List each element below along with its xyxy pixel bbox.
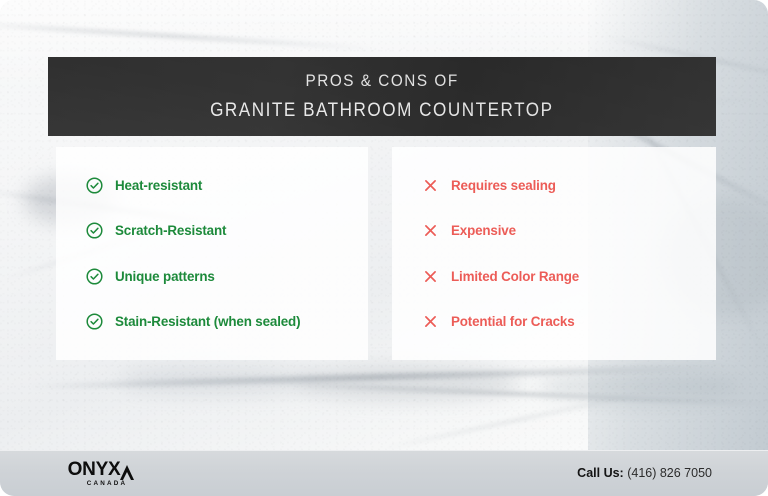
pros-panel: Heat-resistant Scratch-Resistant Unique … [56, 147, 368, 360]
list-item-label: Expensive [451, 223, 516, 238]
list-item: Expensive [422, 208, 716, 254]
check-circle-icon [86, 222, 103, 239]
logo-word-text: ONYX [68, 460, 121, 479]
logo-letter-a-icon [120, 465, 134, 480]
x-mark-icon [422, 313, 439, 330]
list-item-label: Heat-resistant [115, 178, 202, 193]
footer-bar: ONYX CANADA Call Us: (416) 826 7050 [0, 450, 768, 496]
list-item-label: Scratch-Resistant [115, 223, 226, 238]
x-mark-icon [422, 222, 439, 239]
list-item: Potential for Cracks [422, 299, 716, 345]
x-mark-icon [422, 177, 439, 194]
cons-panel: Requires sealing Expensive Limited Color… [392, 147, 716, 360]
check-circle-icon [86, 313, 103, 330]
x-mark-icon [422, 268, 439, 285]
list-item: Unique patterns [86, 254, 368, 300]
call-us-block[interactable]: Call Us: (416) 826 7050 [577, 466, 712, 480]
brand-logo[interactable]: ONYX CANADA [58, 460, 144, 487]
list-item: Stain-Resistant (when sealed) [86, 299, 368, 345]
title-banner: PROS & CONS OF GRANITE BATHROOM COUNTERT… [48, 57, 716, 136]
list-item: Requires sealing [422, 163, 716, 209]
list-item-label: Stain-Resistant (when sealed) [115, 314, 300, 329]
phone-number[interactable]: (416) 826 7050 [627, 466, 712, 480]
list-item-label: Potential for Cracks [451, 314, 575, 329]
list-item-label: Limited Color Range [451, 269, 579, 284]
list-item: Scratch-Resistant [86, 208, 368, 254]
check-circle-icon [86, 268, 103, 285]
logo-subtitle: CANADA [58, 480, 144, 487]
call-us-label: Call Us: [577, 466, 624, 480]
list-item-label: Requires sealing [451, 178, 556, 193]
list-item: Heat-resistant [86, 163, 368, 209]
page-title: GRANITE BATHROOM COUNTERTOP [210, 100, 553, 122]
title-line-1: PROS & CONS OF [305, 71, 458, 91]
check-circle-icon [86, 177, 103, 194]
infographic-card: PROS & CONS OF GRANITE BATHROOM COUNTERT… [0, 0, 768, 496]
list-item-label: Unique patterns [115, 269, 215, 284]
list-item: Limited Color Range [422, 254, 716, 300]
logo-wordmark: ONYX [58, 460, 144, 479]
